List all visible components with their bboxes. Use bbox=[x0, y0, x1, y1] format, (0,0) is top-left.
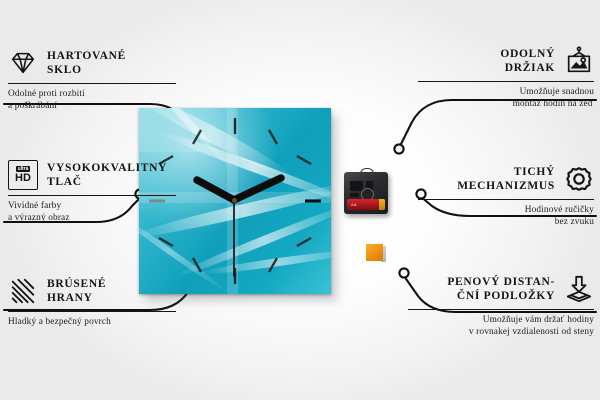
feature-tempered-glass: HARTOVANÉ SKLO Odolné proti rozbití a po… bbox=[8, 48, 176, 113]
picture-frame-icon bbox=[564, 46, 594, 76]
feature-polished-edges: BRÚSENÉ HRANY Hladký a bezpečný povrch bbox=[8, 276, 176, 328]
ultra-hd-badge-large: HD bbox=[15, 172, 31, 184]
foam-spacer-icon bbox=[564, 274, 594, 304]
feature-description: Hladký a bezpečný povrch bbox=[8, 316, 176, 328]
divider bbox=[8, 83, 176, 84]
feature-description: Hodinové ručičky bez zvuku bbox=[418, 204, 594, 229]
feature-title: TICHÝ MECHANIZMUS bbox=[457, 165, 555, 193]
clock-mechanism: AA bbox=[344, 168, 388, 214]
battery: AA bbox=[347, 199, 385, 210]
feature-durable-holder: ODOLNÝ DRŽIAK Umožňuje snadnou montáž ho… bbox=[418, 46, 594, 111]
foam-pad-top bbox=[366, 244, 383, 261]
feature-description: Umožňuje vám držať hodiny v rovnakej vzd… bbox=[408, 314, 594, 339]
divider bbox=[418, 199, 594, 200]
feature-silent-mechanism: TICHÝ MECHANIZMUS Hodinové ručičky bez z… bbox=[418, 164, 594, 229]
ultra-hd-icon: ultra HD bbox=[8, 160, 38, 190]
feature-foam-spacers: PENOVÝ DISTAN- ČNÍ PODLOŽKY Umožňuje vám… bbox=[408, 274, 594, 339]
clock-hub bbox=[232, 198, 237, 203]
feature-title: PENOVÝ DISTAN- ČNÍ PODLOŽKY bbox=[447, 275, 555, 303]
divider bbox=[8, 311, 176, 312]
divider bbox=[8, 195, 176, 196]
mechanism-slot bbox=[350, 193, 359, 197]
hour-hand bbox=[197, 180, 234, 200]
feature-header: PENOVÝ DISTAN- ČNÍ PODLOŽKY bbox=[408, 274, 594, 304]
feature-description: Odolné proti rozbití a poškrábání bbox=[8, 88, 176, 113]
feature-title: ODOLNÝ DRŽIAK bbox=[500, 47, 555, 75]
minute-hand bbox=[234, 178, 281, 200]
diamond-icon bbox=[8, 48, 38, 78]
foam-spacer-pad bbox=[366, 244, 386, 262]
mechanism-body: AA bbox=[344, 172, 388, 214]
feature-title: BRÚSENÉ HRANY bbox=[47, 277, 106, 305]
divider bbox=[418, 81, 594, 82]
brushed-edges-icon bbox=[8, 276, 38, 306]
feature-description: Vividné farby a výrazný obraz bbox=[8, 200, 176, 225]
feature-header: TICHÝ MECHANIZMUS bbox=[418, 164, 594, 194]
feature-header: ultra HD VYSOKOKVALITNÝ TLAČ bbox=[8, 160, 176, 190]
divider bbox=[408, 309, 594, 310]
feature-high-quality-print: ultra HD VYSOKOKVALITNÝ TLAČ Vividné far… bbox=[8, 160, 176, 225]
endpoint-holder bbox=[394, 144, 403, 153]
mechanism-slot bbox=[350, 181, 363, 191]
gear-icon bbox=[564, 164, 594, 194]
feature-header: ODOLNÝ DRŽIAK bbox=[418, 46, 594, 76]
battery-terminal bbox=[379, 199, 385, 210]
infographic-canvas: AA HARTOVANÉ SKLO Odolné proti rozbití bbox=[0, 0, 600, 400]
battery-label: AA bbox=[351, 202, 357, 207]
feature-header: HARTOVANÉ SKLO bbox=[8, 48, 176, 78]
feature-header: BRÚSENÉ HRANY bbox=[8, 276, 176, 306]
feature-title: HARTOVANÉ SKLO bbox=[47, 49, 126, 77]
feature-title: VYSOKOKVALITNÝ TLAČ bbox=[47, 161, 167, 189]
feature-description: Umožňuje snadnou montáž hodin na zeď bbox=[418, 86, 594, 111]
